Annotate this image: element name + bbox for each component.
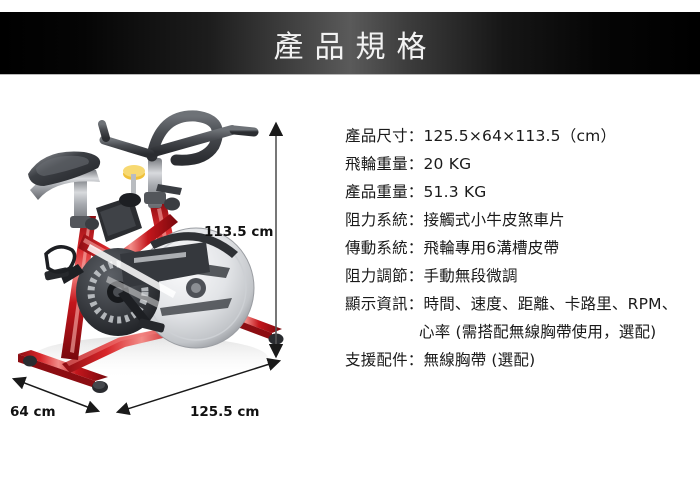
spec-row: 阻力調節：手動無段微調 bbox=[345, 262, 700, 290]
spec-row: 產品尺寸：125.5×64×113.5（cm） bbox=[345, 122, 700, 150]
header-banner: 產品規格 bbox=[0, 12, 700, 75]
spec-row: 阻力系統：接觸式小牛皮煞車片 bbox=[345, 206, 700, 234]
stem-clamp bbox=[144, 192, 166, 204]
product-spec-page: 產品規格 bbox=[0, 0, 700, 477]
spec-row: 支援配件：無線胸帶 (選配) bbox=[345, 346, 700, 374]
spec-row-continuation: 心率 (需搭配無線胸帶使用，選配) bbox=[345, 318, 700, 346]
handlebar-adjust-knob bbox=[164, 198, 180, 211]
bottle-holder bbox=[96, 193, 142, 242]
spec-row: 顯示資訊：時間、速度、距離、卡路里、RPM、 bbox=[345, 290, 700, 318]
product-image-spin-bike bbox=[0, 96, 300, 396]
toe-cage bbox=[46, 247, 75, 272]
seat-adjust-knob bbox=[85, 218, 99, 230]
width-dimension-label: 64 cm bbox=[10, 404, 56, 420]
spec-row: 飛輪重量：20 KG bbox=[345, 150, 700, 178]
specification-list: 產品尺寸：125.5×64×113.5（cm） 飛輪重量：20 KG 產品重量：… bbox=[345, 122, 700, 374]
handlebar bbox=[102, 116, 254, 160]
resistance-knob bbox=[123, 165, 145, 196]
spec-row: 傳動系統：飛輪專用6溝槽皮帶 bbox=[345, 234, 700, 262]
height-dimension-label: 113.5 cm bbox=[204, 224, 273, 240]
spec-row: 產品重量：51.3 KG bbox=[345, 178, 700, 206]
length-dimension-label: 125.5 cm bbox=[190, 404, 259, 420]
page-title: 產品規格 bbox=[0, 12, 700, 75]
